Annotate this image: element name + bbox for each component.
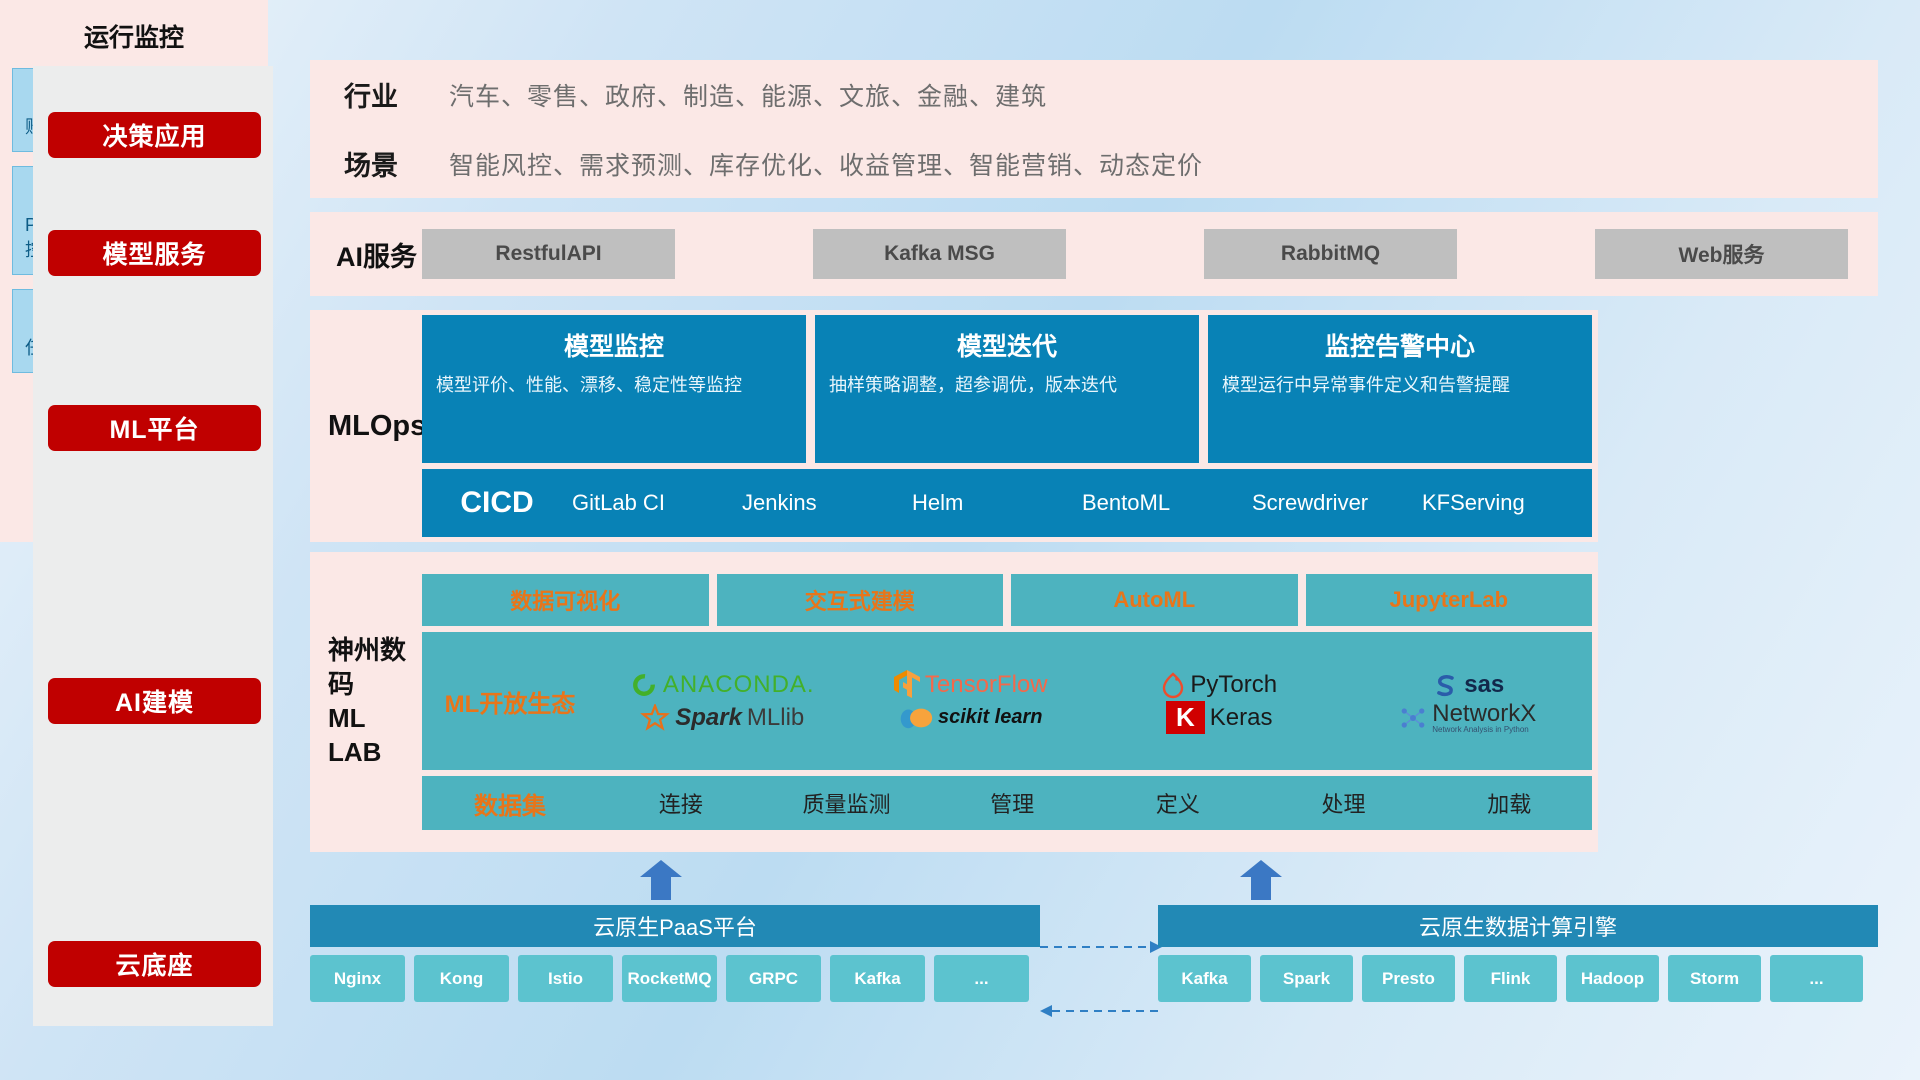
cicd-item-gitlab-ci[interactable]: GitLab CI [572, 491, 742, 514]
tool-chip-interactive-modeling[interactable]: 交互式建模 [717, 574, 1004, 626]
scenario-label: 场景 [344, 144, 449, 183]
layer-tag-decision-app[interactable]: 决策应用 [48, 112, 261, 158]
layer-tag-label: ML平台 [109, 410, 199, 446]
card-desc: 模型评价、性能、漂移、稳定性等监控 [436, 373, 792, 397]
cicd-title: CICD [422, 486, 572, 520]
decision-app-band: 行业 汽车、零售、政府、制造、能源、文旅、金融、建筑 场景 智能风控、需求预测、… [310, 60, 1878, 198]
ml-lab-label: 神州数码 ML LAB [310, 634, 422, 769]
spark-logo-text: Spark [675, 704, 742, 732]
service-chip-restfulapi[interactable]: RestfulAPI [422, 229, 675, 279]
cicd-row: CICD GitLab CI Jenkins Helm BentoML Scre… [422, 469, 1592, 537]
tool-chip-automl[interactable]: AutoML [1011, 574, 1298, 626]
cloud-paas-bar[interactable]: 云原生PaaS平台 [310, 905, 1040, 947]
industry-value: 汽车、零售、政府、制造、能源、文旅、金融、建筑 [449, 77, 1047, 113]
industry-row: 行业 汽车、零售、政府、制造、能源、文旅、金融、建筑 [310, 60, 1878, 129]
cloud-engine-chip-list: Kafka Spark Presto Flink Hadoop Storm ..… [1158, 955, 1863, 1002]
ai-service-band: AI服务 RestfulAPI Kafka MSG RabbitMQ Web服务 [310, 212, 1878, 296]
layer-tag-cloud-base[interactable]: 云底座 [48, 941, 261, 987]
service-chip-web-service[interactable]: Web服务 [1595, 229, 1848, 279]
layer-tag-model-service[interactable]: 模型服务 [48, 230, 261, 276]
dataset-row: 数据集 连接 质量监测 管理 定义 处理 加载 [422, 776, 1592, 830]
service-chip-kafka-msg[interactable]: Kafka MSG [813, 229, 1066, 279]
card-title: 模型迭代 [829, 327, 1185, 363]
cloud-chip-nginx[interactable]: Nginx [310, 955, 405, 1002]
service-chip-rabbitmq[interactable]: RabbitMQ [1204, 229, 1457, 279]
dataset-item-processing[interactable]: 处理 [1261, 787, 1427, 819]
mlops-card-model-iteration[interactable]: 模型迭代 抽样策略调整，超参调优，版本迭代 [815, 315, 1199, 463]
keras-logo: K Keras [1166, 701, 1272, 734]
layer-tag-label: 云底座 [115, 946, 193, 982]
mlops-card-alert-center[interactable]: 监控告警中心 模型运行中异常事件定义和告警提醒 [1208, 315, 1592, 463]
anaconda-logo-text: ANACONDA. [663, 671, 815, 699]
cloud-paas-chip-list: Nginx Kong Istio RocketMQ GRPC Kafka ... [310, 955, 1029, 1002]
dataset-item-list: 连接 质量监测 管理 定义 处理 加载 [598, 787, 1592, 819]
ml-ecosystem-logo-grid: ANACONDA. TensorFlow [598, 668, 1592, 734]
scikit-learn-icon [899, 703, 933, 733]
engine-chip-presto[interactable]: Presto [1362, 955, 1455, 1002]
sas-logo-text: sas [1464, 671, 1504, 699]
modeling-tool-list: 数据可视化 交互式建模 AutoML JupyterLab [422, 574, 1592, 626]
cloud-chip-grpc[interactable]: GRPC [726, 955, 821, 1002]
arrow-up-engine-icon [1240, 860, 1282, 900]
engine-chip-hadoop[interactable]: Hadoop [1566, 955, 1659, 1002]
cloud-engine-bar[interactable]: 云原生数据计算引擎 [1158, 905, 1878, 947]
sas-icon [1431, 671, 1459, 699]
architecture-diagram: 决策应用 模型服务 ML平台 AI建模 云底座 行业 汽车、零售、政府、制造、能… [0, 0, 1920, 1080]
cicd-item-screwdriver[interactable]: Screwdriver [1252, 491, 1422, 514]
layer-tag-ml-platform[interactable]: ML平台 [48, 405, 261, 451]
keras-mark: K [1166, 701, 1205, 734]
tool-chip-data-visualization[interactable]: 数据可视化 [422, 574, 709, 626]
dataset-item-connect[interactable]: 连接 [598, 787, 764, 819]
scikit-learn-logo-text: scikit learn [938, 706, 1043, 729]
cicd-item-kfserving[interactable]: KFServing [1422, 491, 1592, 514]
sas-logo: sas [1431, 671, 1504, 699]
card-title: 监控告警中心 [1222, 327, 1578, 363]
cloud-chip-kong[interactable]: Kong [414, 955, 509, 1002]
layer-tag-label: 决策应用 [102, 117, 206, 153]
pytorch-logo: PyTorch [1161, 671, 1277, 699]
ml-ecosystem-row: ML开放生态 ANACONDA. Ten [422, 632, 1592, 770]
engine-chip-spark[interactable]: Spark [1260, 955, 1353, 1002]
cloud-chip-rocketmq[interactable]: RocketMQ [622, 955, 717, 1002]
tensorflow-logo: TensorFlow [894, 670, 1048, 700]
engine-chip-storm[interactable]: Storm [1668, 955, 1761, 1002]
networkx-logo-text: NetworkX [1432, 702, 1536, 726]
mlops-card-model-monitoring[interactable]: 模型监控 模型评价、性能、漂移、稳定性等监控 [422, 315, 806, 463]
mlops-card-list: 模型监控 模型评价、性能、漂移、稳定性等监控 模型迭代 抽样策略调整，超参调优，… [422, 315, 1592, 463]
card-desc: 抽样策略调整，超参调优，版本迭代 [829, 373, 1185, 397]
ml-lab-label-line2: ML LAB [328, 702, 422, 770]
cloud-chip-istio[interactable]: Istio [518, 955, 613, 1002]
pytorch-icon [1161, 671, 1185, 699]
layer-tag-label: 模型服务 [102, 235, 206, 271]
mlops-content: 模型监控 模型评价、性能、漂移、稳定性等监控 模型迭代 抽样策略调整，超参调优，… [422, 315, 1598, 537]
ai-service-label: AI服务 [310, 235, 422, 274]
dataset-item-definition[interactable]: 定义 [1095, 787, 1261, 819]
ml-lab-label-line1: 神州数码 [328, 634, 422, 702]
keras-logo-text: Keras [1210, 704, 1273, 732]
tensorflow-icon [894, 670, 920, 700]
networkx-logo: NetworkX Network Analysis in Python [1399, 702, 1536, 734]
mlops-label: MLOps [310, 410, 422, 443]
card-desc: 模型运行中异常事件定义和告警提醒 [1222, 373, 1578, 397]
runtime-monitor-title: 运行监控 [12, 18, 256, 54]
scenario-value: 智能风控、需求预测、库存优化、收益管理、智能营销、动态定价 [449, 146, 1203, 182]
tool-chip-jupyterlab[interactable]: JupyterLab [1306, 574, 1593, 626]
bidirectional-dashed-connector [1038, 935, 1164, 1025]
layer-tag-ai-modeling[interactable]: AI建模 [48, 678, 261, 724]
networkx-tagline: Network Analysis in Python [1432, 726, 1536, 734]
ai-modeling-band: 神州数码 ML LAB 数据可视化 交互式建模 AutoML JupyterLa… [310, 552, 1598, 852]
anaconda-logo: ANACONDA. [630, 671, 815, 699]
cloud-chip-kafka[interactable]: Kafka [830, 955, 925, 1002]
engine-chip-flink[interactable]: Flink [1464, 955, 1557, 1002]
pytorch-logo-text: PyTorch [1190, 671, 1277, 699]
cicd-item-list: GitLab CI Jenkins Helm BentoML Screwdriv… [572, 491, 1592, 514]
cloud-chip-more[interactable]: ... [934, 955, 1029, 1002]
mlops-band: MLOps 模型监控 模型评价、性能、漂移、稳定性等监控 模型迭代 抽样策略调整… [310, 310, 1598, 542]
industry-label: 行业 [344, 75, 449, 114]
tensorflow-logo-text: TensorFlow [925, 671, 1048, 699]
networkx-text-block: NetworkX Network Analysis in Python [1432, 702, 1536, 734]
cloud-engine-title: 云原生数据计算引擎 [1419, 910, 1617, 942]
cicd-item-jenkins[interactable]: Jenkins [742, 491, 912, 514]
anaconda-icon [630, 671, 658, 699]
dataset-item-quality-monitoring[interactable]: 质量监测 [764, 787, 930, 819]
cicd-item-bentoml[interactable]: BentoML [1082, 491, 1252, 514]
layer-rail [33, 66, 273, 1026]
mllib-logo-text: MLlib [747, 704, 804, 732]
networkx-icon [1399, 704, 1427, 732]
dataset-item-management[interactable]: 管理 [929, 787, 1095, 819]
ml-ecosystem-label: ML开放生态 [422, 684, 598, 719]
scenario-row: 场景 智能风控、需求预测、库存优化、收益管理、智能营销、动态定价 [310, 129, 1878, 198]
engine-chip-more[interactable]: ... [1770, 955, 1863, 1002]
arrow-up-paas-icon [640, 860, 682, 900]
layer-tag-label: AI建模 [115, 683, 194, 719]
dataset-item-loading[interactable]: 加载 [1426, 787, 1592, 819]
scikit-learn-logo: scikit learn [899, 703, 1043, 733]
dataset-label: 数据集 [422, 786, 598, 821]
card-title: 模型监控 [436, 327, 792, 363]
engine-chip-kafka[interactable]: Kafka [1158, 955, 1251, 1002]
ai-service-chip-list: RestfulAPI Kafka MSG RabbitMQ Web服务 [422, 229, 1878, 279]
ai-modeling-content: 数据可视化 交互式建模 AutoML JupyterLab ML开放生态 ANA… [422, 574, 1598, 830]
cicd-item-helm[interactable]: Helm [912, 491, 1082, 514]
spark-mllib-logo: Spark MLlib [640, 704, 804, 732]
spark-icon [640, 704, 670, 732]
cloud-paas-title: 云原生PaaS平台 [593, 910, 757, 942]
